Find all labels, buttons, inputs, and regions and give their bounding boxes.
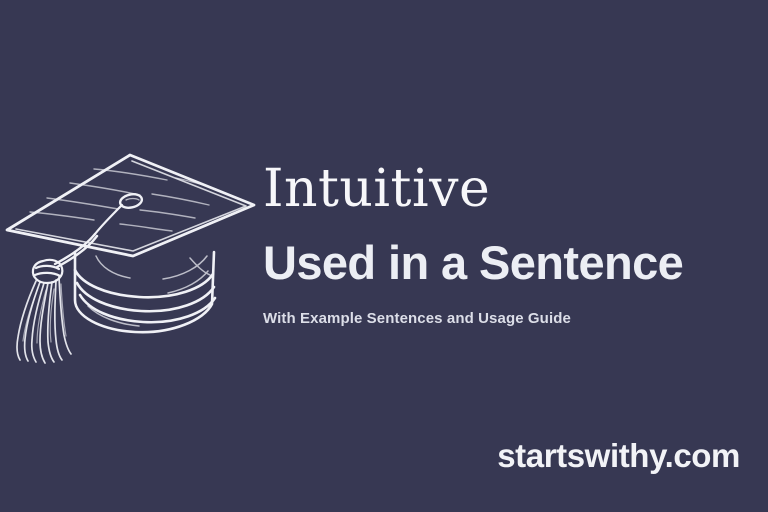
cap-board-hatching	[30, 169, 216, 231]
graduation-cap-icon	[0, 148, 262, 368]
cap-base-shading	[88, 256, 210, 326]
word-card: Intuitive Used in a Sentence With Exampl…	[0, 0, 768, 512]
page-title-main: Used in a Sentence	[263, 218, 763, 289]
brand-domain-label: startswithy.com	[497, 437, 740, 475]
cap-board-inner-edge	[16, 161, 246, 251]
tassel-knot	[33, 260, 62, 283]
cap-base	[75, 252, 215, 332]
page-subtitle: With Example Sentences and Usage Guide	[263, 289, 763, 329]
tassel-cord	[55, 234, 97, 267]
tassel-strands-secondary	[23, 284, 66, 343]
page-title-word: Intuitive	[263, 160, 763, 218]
headline-block: Intuitive Used in a Sentence With Exampl…	[263, 160, 763, 329]
cap-button	[95, 192, 143, 234]
tassel-strands	[17, 277, 71, 363]
cap-board	[7, 155, 254, 256]
